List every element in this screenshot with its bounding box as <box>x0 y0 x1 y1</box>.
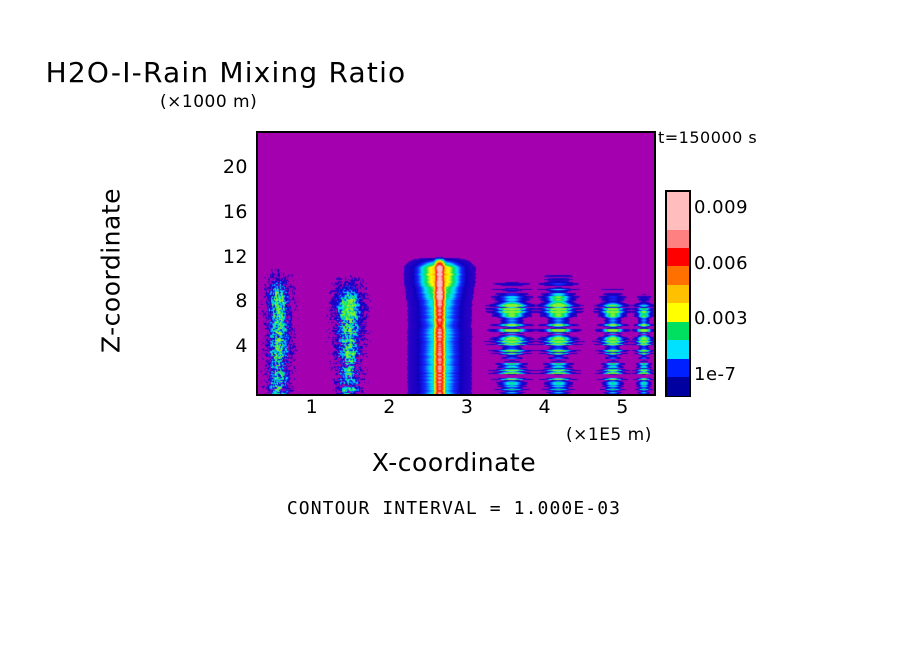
colorbar-tick-label: 1e-7 <box>694 364 736 385</box>
plot-area <box>256 131 656 396</box>
colorbar-band <box>667 284 689 303</box>
page-title: H2O-I-Rain Mixing Ratio <box>0 56 904 89</box>
x-tick-label: 5 <box>602 396 642 418</box>
colorbar-tick-label: 0.009 <box>694 197 748 218</box>
colorbar-tick-label: 0.006 <box>694 253 748 274</box>
x-axis-tick-labels: 12345 <box>256 396 652 422</box>
x-tick-label: 4 <box>525 396 565 418</box>
y-axis-unit-label: (×1000 m) <box>160 92 257 112</box>
colorbar-band <box>667 303 689 322</box>
colorbar-band <box>667 266 689 285</box>
colorbar-band <box>667 340 689 359</box>
colorbar-band <box>667 192 689 230</box>
contour-interval-caption: CONTOUR INTERVAL = 1.000E-03 <box>256 498 652 519</box>
y-tick-label: 12 <box>204 246 248 268</box>
y-tick-label: 4 <box>204 335 248 357</box>
y-tick-label: 16 <box>204 201 248 223</box>
colorbar-band <box>667 358 689 377</box>
y-axis-title: Z-coordinate <box>97 151 126 391</box>
colorbar-tick-label: 0.003 <box>694 308 748 329</box>
x-axis-title: X-coordinate <box>256 448 652 477</box>
x-tick-label: 2 <box>370 396 410 418</box>
y-tick-label: 20 <box>204 156 248 178</box>
colorbar-band <box>667 247 689 266</box>
colorbar-band <box>667 321 689 340</box>
timestamp-label: t=150000 s <box>658 128 757 147</box>
colorbar <box>665 190 691 397</box>
y-axis-tick-labels: 48121620 <box>200 131 248 392</box>
colorbar-band <box>667 377 689 396</box>
y-tick-label: 8 <box>204 290 248 312</box>
x-axis-unit-label: (×1E5 m) <box>566 425 652 445</box>
x-tick-label: 1 <box>292 396 332 418</box>
heatmap-canvas <box>258 133 654 394</box>
colorbar-tick-labels: 1e-70.0030.0060.009 <box>694 190 804 393</box>
colorbar-band <box>667 229 689 248</box>
x-tick-label: 3 <box>447 396 487 418</box>
